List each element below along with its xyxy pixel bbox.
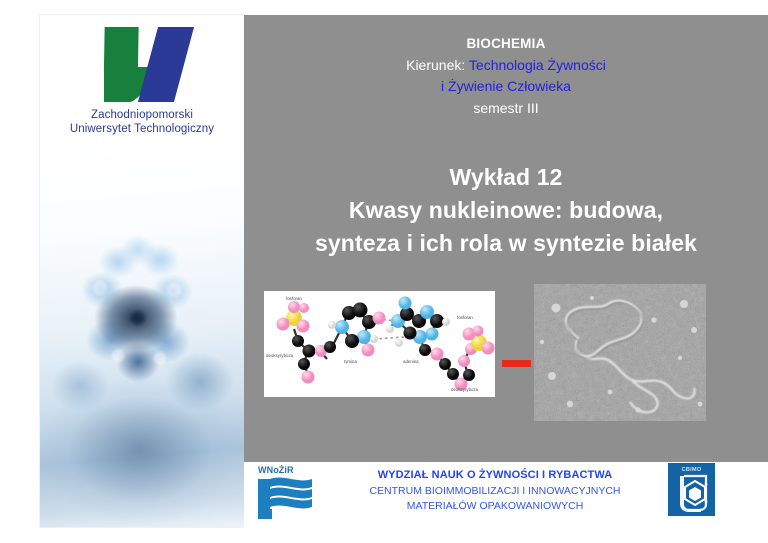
footer-band: WNoŻiR WYDZIAŁ NAUK O ŻYWNOŚCI I RYBACTW…: [244, 462, 768, 528]
molecule-label-adenina: adenina: [403, 359, 419, 364]
wnozir-logo-label: WNoŻiR: [258, 465, 294, 475]
field-label: Kierunek:: [406, 57, 465, 73]
wnozir-logo: WNoŻiR: [250, 465, 320, 523]
faculty-name: WYDZIAŁ NAUK O ŻYWNOŚCI I RYBACTWA: [330, 468, 660, 484]
cbimo-logo: CBIMO: [668, 463, 715, 516]
presentation-slide: Zachodniopomorski Uniwersytet Technologi…: [0, 0, 768, 543]
micrograph-svg: [534, 284, 706, 421]
university-logo-block: Zachodniopomorski Uniwersytet Technologi…: [40, 27, 244, 142]
faculty-text-block: WYDZIAŁ NAUK O ŻYWNOŚCI I RYBACTWA CENTR…: [330, 468, 660, 515]
sidebar-branding-panel: Zachodniopomorski Uniwersytet Technologi…: [40, 15, 244, 527]
title-line2: Kwasy nukleinowe: budowa,: [244, 194, 768, 227]
center-name-line1: CENTRUM BIOIMMOBILIZACJI I INNOWACYJNYCH: [330, 484, 660, 500]
university-name: Zachodniopomorski Uniwersytet Technologi…: [40, 109, 244, 136]
title-line3: synteza i ich rola w syntezie białek: [244, 227, 768, 260]
zut-logo: [88, 27, 196, 102]
main-gray-panel: BIOCHEMIA Kierunek: Technologia Żywności…: [244, 15, 768, 462]
field-value-line2: i Żywienie Człowieka: [244, 76, 768, 98]
molecule-label-tymina: tymina: [344, 359, 357, 364]
field-value: Technologia Żywności: [469, 57, 606, 73]
field-of-study-line: Kierunek: Technologia Żywności: [244, 55, 768, 77]
zut-logo-blue-shape: [138, 27, 194, 102]
blue-flower-photo: [40, 150, 244, 527]
molecule-label-deoksyryboza-left: deoksyryboza: [266, 353, 294, 358]
page-title: Wykład 12 Kwasy nukleinowe: budowa, synt…: [244, 161, 768, 260]
molecule-svg: fosforan deoksyryboza tymina adenina fos…: [264, 291, 495, 397]
header-block: BIOCHEMIA Kierunek: Technologia Żywności…: [244, 33, 768, 119]
university-name-line2: Uniwersytet Technologiczny: [40, 123, 244, 137]
molecule-label-fosforan-right: fosforan: [457, 315, 473, 320]
title-line1: Wykład 12: [244, 161, 768, 194]
course-name: BIOCHEMIA: [244, 33, 768, 55]
molecule-label-fosforan-left: fosforan: [286, 296, 302, 301]
semester: semestr III: [244, 98, 768, 120]
dna-base-pair-diagram: fosforan deoksyryboza tymina adenina fos…: [264, 291, 495, 397]
molecule-label-deoksyryboza-right: deoksyryboza: [451, 387, 479, 392]
cbimo-logo-label: CBIMO: [668, 467, 715, 473]
university-name-line1: Zachodniopomorski: [40, 109, 244, 123]
flower-photo-highlights: [40, 150, 244, 527]
center-name-line2: MATERIAŁÓW OPAKOWANIOWYCH: [330, 499, 660, 515]
dna-electron-micrograph: [531, 281, 709, 424]
